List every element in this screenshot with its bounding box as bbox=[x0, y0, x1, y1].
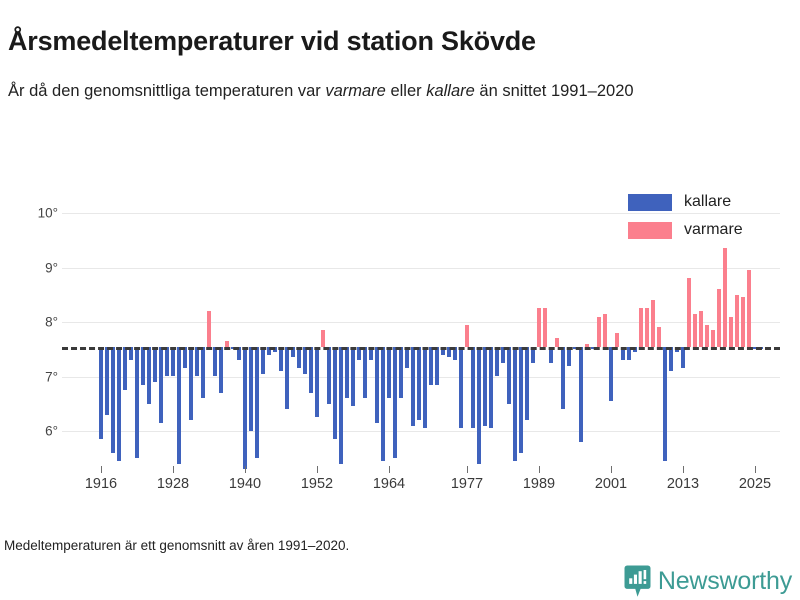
y-axis-label-10: 10° bbox=[18, 206, 58, 221]
bar-1930[interactable] bbox=[183, 347, 187, 369]
bar-2001[interactable] bbox=[609, 347, 613, 402]
bar-1916[interactable] bbox=[99, 347, 103, 440]
x-axis-label-1928: 1928 bbox=[157, 476, 189, 492]
bar-1969[interactable] bbox=[417, 347, 421, 421]
bar-1985[interactable] bbox=[513, 347, 517, 461]
bar-1917[interactable] bbox=[105, 347, 109, 415]
bar-1926[interactable] bbox=[159, 347, 163, 423]
x-axis-tick-2001 bbox=[611, 466, 612, 473]
brand-name: Newsworthy bbox=[658, 567, 792, 596]
bar-1920[interactable] bbox=[123, 347, 127, 391]
bar-2002[interactable] bbox=[615, 333, 619, 347]
bar-1928[interactable] bbox=[171, 347, 175, 377]
bar-1967[interactable] bbox=[405, 347, 409, 369]
bar-1931[interactable] bbox=[189, 347, 193, 421]
bar-1919[interactable] bbox=[117, 347, 121, 461]
bar-2019[interactable] bbox=[717, 289, 721, 346]
x-axis-label-1940: 1940 bbox=[229, 476, 261, 492]
bar-1934[interactable] bbox=[207, 311, 211, 346]
bar-1936[interactable] bbox=[219, 347, 223, 393]
chart-legend: kallare varmare bbox=[628, 190, 743, 246]
bar-2010[interactable] bbox=[663, 347, 667, 461]
bar-2021[interactable] bbox=[729, 317, 733, 347]
x-axis-label-1989: 1989 bbox=[523, 476, 555, 492]
bar-1966[interactable] bbox=[399, 347, 403, 399]
x-axis-tick-1977 bbox=[467, 466, 468, 473]
bar-1927[interactable] bbox=[165, 347, 169, 377]
legend-swatch-kallare bbox=[628, 194, 672, 211]
bar-1956[interactable] bbox=[339, 347, 343, 464]
bar-1954[interactable] bbox=[327, 347, 331, 404]
bar-1947[interactable] bbox=[285, 347, 289, 410]
bar-1918[interactable] bbox=[111, 347, 115, 453]
x-axis-label-1964: 1964 bbox=[373, 476, 405, 492]
y-axis-label-7: 7° bbox=[18, 369, 58, 384]
bar-1976[interactable] bbox=[459, 347, 463, 429]
bar-1977[interactable] bbox=[465, 325, 469, 347]
bar-2011[interactable] bbox=[669, 347, 673, 372]
bar-1984[interactable] bbox=[507, 347, 511, 404]
legend-swatch-varmare bbox=[628, 222, 672, 239]
x-axis-tick-1940 bbox=[245, 466, 246, 473]
legend-label-kallare: kallare bbox=[684, 193, 731, 211]
temperature-bar-chart: 6°7°8°9°10° 1916192819401952196419771989… bbox=[0, 0, 800, 600]
bar-1963[interactable] bbox=[381, 347, 385, 461]
bar-1979[interactable] bbox=[477, 347, 481, 464]
gridline-9 bbox=[62, 268, 780, 269]
y-axis-label-8: 8° bbox=[18, 315, 58, 330]
bar-1993[interactable] bbox=[561, 347, 565, 410]
bar-1986[interactable] bbox=[519, 347, 523, 453]
bar-2014[interactable] bbox=[687, 278, 691, 346]
bar-1955[interactable] bbox=[333, 347, 337, 440]
legend-item-varmare[interactable]: varmare bbox=[628, 218, 743, 242]
bar-1996[interactable] bbox=[579, 347, 583, 442]
bar-1958[interactable] bbox=[351, 347, 355, 407]
bar-1992[interactable] bbox=[555, 338, 559, 346]
bar-chart-exclamation-icon bbox=[624, 565, 651, 598]
x-axis-tick-1916 bbox=[101, 466, 102, 473]
bar-1989[interactable] bbox=[537, 308, 541, 346]
bar-1922[interactable] bbox=[135, 347, 139, 459]
x-axis-tick-1964 bbox=[389, 466, 390, 473]
bar-2007[interactable] bbox=[645, 308, 649, 346]
bar-1941[interactable] bbox=[249, 347, 253, 431]
x-axis-label-1916: 1916 bbox=[85, 476, 117, 492]
x-axis-tick-1989 bbox=[539, 466, 540, 473]
average-baseline bbox=[62, 347, 780, 350]
bar-1978[interactable] bbox=[471, 347, 475, 429]
footer-note: Medeltemperaturen är ett genomsnitt av å… bbox=[4, 538, 349, 553]
bar-1933[interactable] bbox=[201, 347, 205, 399]
bar-1987[interactable] bbox=[525, 347, 529, 421]
bar-2020[interactable] bbox=[723, 248, 727, 346]
y-axis-label-6: 6° bbox=[18, 424, 58, 439]
bar-2023[interactable] bbox=[741, 297, 745, 346]
bar-1962[interactable] bbox=[375, 347, 379, 423]
bar-1980[interactable] bbox=[483, 347, 487, 426]
x-axis-label-2001: 2001 bbox=[595, 476, 627, 492]
x-axis-tick-2013 bbox=[683, 466, 684, 473]
legend-item-kallare[interactable]: kallare bbox=[628, 190, 743, 214]
bar-2009[interactable] bbox=[657, 327, 661, 346]
bar-1951[interactable] bbox=[309, 347, 313, 393]
x-axis-tick-1952 bbox=[317, 466, 318, 473]
bar-1981[interactable] bbox=[489, 347, 493, 429]
bar-1964[interactable] bbox=[387, 347, 391, 399]
x-axis-label-1977: 1977 bbox=[451, 476, 483, 492]
bar-1943[interactable] bbox=[261, 347, 265, 374]
bar-2018[interactable] bbox=[711, 330, 715, 346]
x-axis-tick-1928 bbox=[173, 466, 174, 473]
y-axis-label-9: 9° bbox=[18, 260, 58, 275]
bar-1999[interactable] bbox=[597, 317, 601, 347]
x-axis-label-1952: 1952 bbox=[301, 476, 333, 492]
bar-1935[interactable] bbox=[213, 347, 217, 377]
bar-1972[interactable] bbox=[435, 347, 439, 385]
bar-1946[interactable] bbox=[279, 347, 283, 372]
gridline-8 bbox=[62, 322, 780, 323]
bar-1957[interactable] bbox=[345, 347, 349, 399]
gridline-7 bbox=[62, 377, 780, 378]
x-axis-label-2025: 2025 bbox=[739, 476, 771, 492]
bar-1940[interactable] bbox=[243, 347, 247, 470]
bar-2024[interactable] bbox=[747, 270, 751, 346]
bar-1990[interactable] bbox=[543, 308, 547, 346]
bar-2015[interactable] bbox=[693, 314, 697, 347]
bar-1968[interactable] bbox=[411, 347, 415, 426]
bar-1925[interactable] bbox=[153, 347, 157, 382]
bar-1965[interactable] bbox=[393, 347, 397, 459]
bar-2016[interactable] bbox=[699, 311, 703, 346]
bar-1952[interactable] bbox=[315, 347, 319, 418]
bar-2000[interactable] bbox=[603, 314, 607, 347]
bar-1942[interactable] bbox=[255, 347, 259, 459]
bar-1970[interactable] bbox=[423, 347, 427, 429]
bar-2008[interactable] bbox=[651, 300, 655, 346]
bar-1953[interactable] bbox=[321, 330, 325, 346]
bar-2017[interactable] bbox=[705, 325, 709, 347]
bar-2013[interactable] bbox=[681, 347, 685, 369]
x-axis-label-2013: 2013 bbox=[667, 476, 699, 492]
legend-label-varmare: varmare bbox=[684, 221, 743, 239]
bar-2006[interactable] bbox=[639, 308, 643, 346]
bar-1960[interactable] bbox=[363, 347, 367, 399]
bar-1950[interactable] bbox=[303, 347, 307, 374]
bar-1924[interactable] bbox=[147, 347, 151, 404]
newsworthy-brand[interactable]: Newsworthy bbox=[624, 565, 792, 598]
x-axis-tick-2025 bbox=[755, 466, 756, 473]
bar-1932[interactable] bbox=[195, 347, 199, 377]
bar-1949[interactable] bbox=[297, 347, 301, 369]
bar-2022[interactable] bbox=[735, 295, 739, 347]
gridline-6 bbox=[62, 431, 780, 432]
bar-1982[interactable] bbox=[495, 347, 499, 377]
bar-1971[interactable] bbox=[429, 347, 433, 385]
bar-1923[interactable] bbox=[141, 347, 145, 385]
bar-1929[interactable] bbox=[177, 347, 181, 464]
